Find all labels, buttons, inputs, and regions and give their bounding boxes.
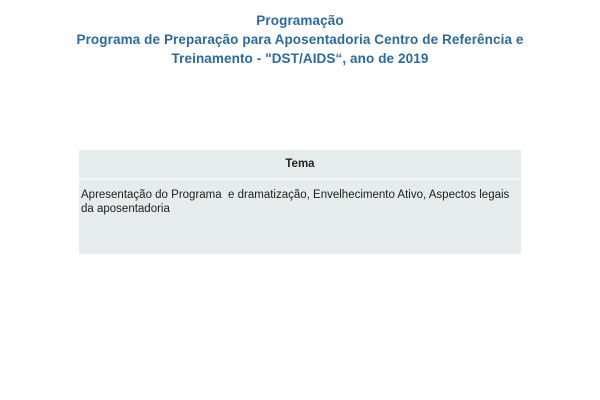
column-header-tema: Tema xyxy=(79,150,521,179)
page-title-line-2: Programa de Preparação para Aposentadori… xyxy=(0,30,600,49)
page-title: Programação Programa de Preparação para … xyxy=(0,11,600,68)
cell-tema: Apresentação do Programa e dramatização,… xyxy=(79,179,521,254)
schedule-table: Tema Apresentação do Programa e dramatiz… xyxy=(79,150,521,254)
table-header-row: Tema xyxy=(79,150,521,179)
document-page: Programação Programa de Preparação para … xyxy=(0,0,600,400)
table-row: Apresentação do Programa e dramatização,… xyxy=(79,179,521,254)
page-title-line-3: Treinamento - "DST/AIDS“, ano de 2019 xyxy=(0,49,600,68)
schedule-table-body: Apresentação do Programa e dramatização,… xyxy=(79,179,521,254)
schedule-table-head: Tema xyxy=(79,150,521,179)
page-title-line-1: Programação xyxy=(0,11,600,30)
